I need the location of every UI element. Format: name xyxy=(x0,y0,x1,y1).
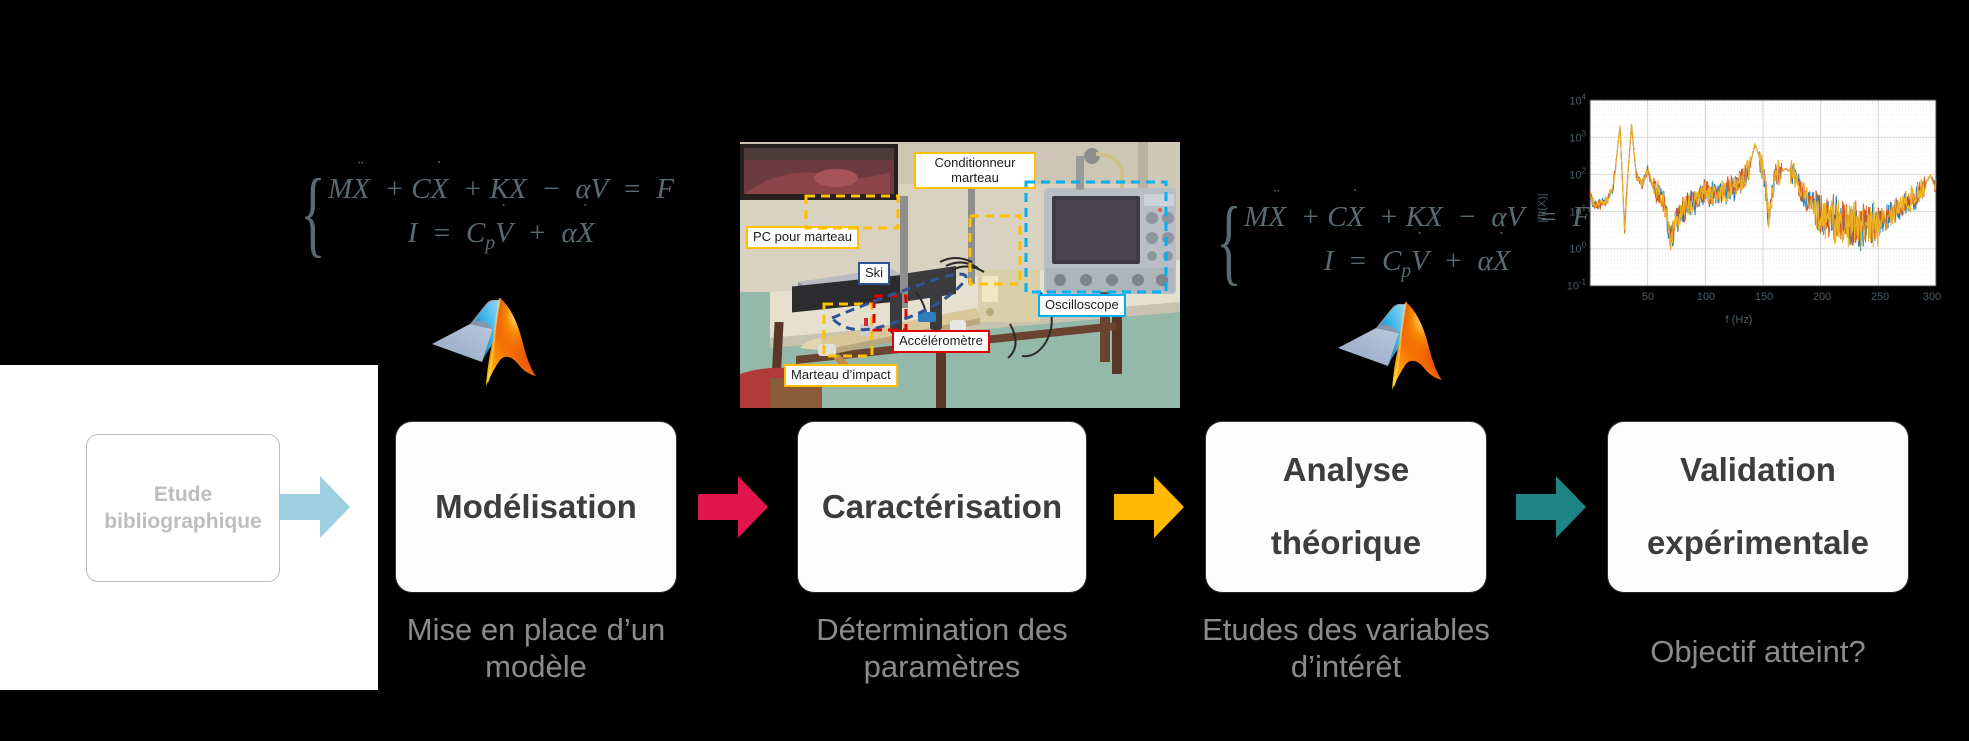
caption-1-line1: Mise en place d’un xyxy=(407,612,666,647)
step-biblio-label-line1: Etude xyxy=(154,483,212,506)
step-modelisation-label: Modélisation xyxy=(425,489,647,526)
step-analyse-label-line2: théorique xyxy=(1261,525,1431,562)
caption-2-line1: Détermination des xyxy=(816,612,1068,647)
step-validation-label-line2: expérimentale xyxy=(1637,525,1879,562)
step-biblio-label-line2: bibliographique xyxy=(104,510,262,533)
equation-line-2: I = Cp˙V + α˙X xyxy=(328,212,674,258)
step-validation-label-line1: Validation xyxy=(1637,452,1879,489)
step-box-modelisation[interactable]: Modélisation xyxy=(396,422,676,592)
frf-magnitude-chart: |fft(X)| f (Hz) 104 103 102 101 100 10-1… xyxy=(1534,88,1944,328)
caption-1-line2: modèle xyxy=(485,649,587,684)
step-analyse-label-line1: Analyse xyxy=(1261,452,1431,489)
arrow-modelisation-to-caracterisation xyxy=(694,468,772,546)
matlab-surface-logo-left xyxy=(430,288,558,398)
step-box-analyse-theorique[interactable]: Analyse théorique xyxy=(1206,422,1486,592)
step-caracterisation-label: Caractérisation xyxy=(812,489,1072,526)
caption-3-line2: d’intérêt xyxy=(1291,649,1401,684)
equation-brace-icon: { xyxy=(300,178,325,247)
caption-2-line2: paramètres xyxy=(864,649,1021,684)
caption-caracterisation: Détermination des paramètres xyxy=(768,612,1116,685)
step-box-etude-bibliographique[interactable]: Etude bibliographique xyxy=(86,434,280,582)
chart-traces xyxy=(1534,88,1944,328)
slide-canvas: { M¨X + C˙X + KX − αV = F I = Cp˙V + α˙X xyxy=(0,0,1969,741)
arrow-shape-1 xyxy=(280,476,350,538)
arrow-analyse-to-validation xyxy=(1512,468,1590,546)
experimental-setup-photo: Conditionneur marteau PC pour marteau Sk… xyxy=(740,142,1180,408)
arrow-caracterisation-to-analyse xyxy=(1110,468,1188,546)
caption-3-line1: Etudes des variables xyxy=(1202,612,1490,647)
caption-validation: Objectif atteint? xyxy=(1578,634,1938,671)
step-box-validation-experimentale[interactable]: Validation expérimentale xyxy=(1608,422,1908,592)
equation-modelisation: { M¨X + C˙X + KX − αV = F I = Cp˙V + α˙X xyxy=(290,168,674,258)
step-box-caracterisation[interactable]: Caractérisation xyxy=(798,422,1086,592)
photo-highlight-boxes xyxy=(740,142,1180,408)
caption-4-line1: Objectif atteint? xyxy=(1650,634,1865,669)
arrow-shape-3 xyxy=(1114,476,1184,538)
equation-analyse: { M¨X + C˙X + KX − αV = F I = Cp˙V + α˙X xyxy=(1206,196,1590,286)
caption-modelisation: Mise en place d’un modèle xyxy=(366,612,706,685)
equation-brace-icon-2: { xyxy=(1216,206,1241,275)
arrow-shape-4 xyxy=(1516,476,1586,538)
arrow-shape-2 xyxy=(698,476,768,538)
caption-analyse: Etudes des variables d’intérêt xyxy=(1176,612,1516,685)
matlab-surface-logo-right xyxy=(1336,292,1464,402)
arrow-biblio-to-modelisation xyxy=(276,468,354,546)
